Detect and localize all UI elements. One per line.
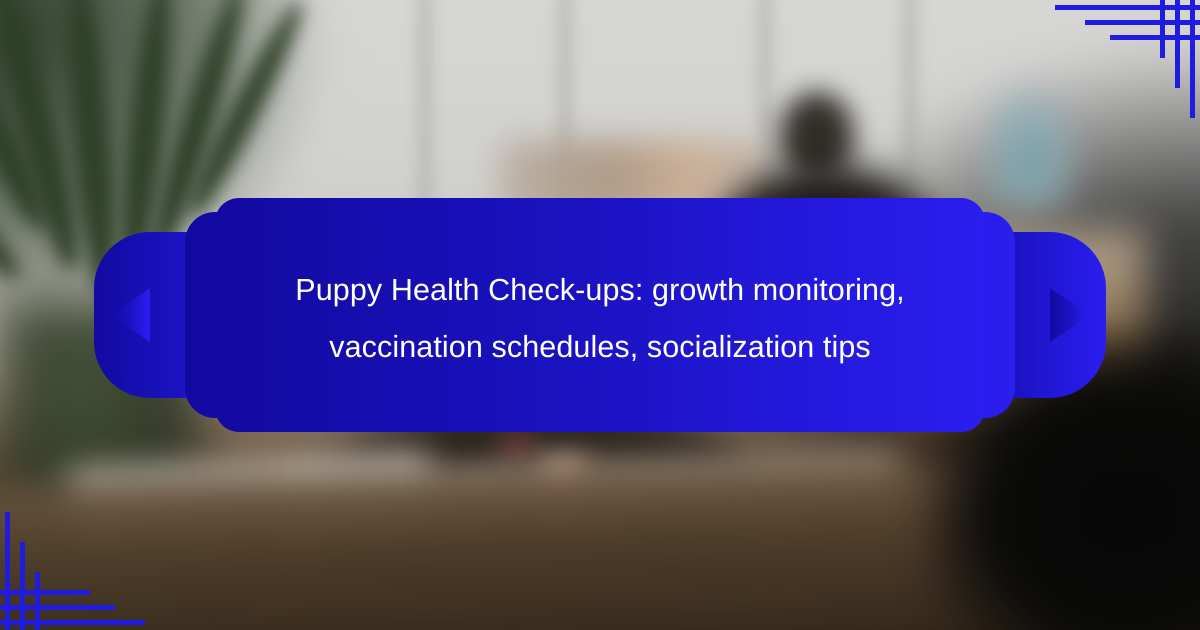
banner-title: Puppy Health Check-ups: growth monitorin…	[215, 262, 985, 376]
corner-rule-bottom-left-v3	[35, 572, 40, 630]
wooden-table	[0, 455, 1062, 630]
red-object	[500, 430, 534, 464]
corner-rule-bottom-left-h3	[0, 590, 90, 595]
teal-object	[985, 88, 1075, 208]
corner-rule-top-right-h3	[1110, 35, 1200, 40]
banner-title-line-2: vaccination schedules, socialization tip…	[215, 319, 985, 376]
corner-rule-top-right-h2	[1085, 20, 1200, 25]
corner-rule-bottom-left-v2	[20, 542, 25, 630]
corner-rule-top-right-v1	[1190, 0, 1195, 118]
corner-rule-top-right-v3	[1160, 0, 1165, 58]
banner-title-line-1: Puppy Health Check-ups: growth monitorin…	[215, 262, 985, 319]
corner-rule-bottom-left-h2	[0, 605, 115, 610]
corner-rule-bottom-left-v1	[5, 512, 10, 630]
corner-rule-top-right-v2	[1175, 0, 1180, 88]
share-card-canvas: Puppy Health Check-ups: growth monitorin…	[0, 0, 1200, 630]
